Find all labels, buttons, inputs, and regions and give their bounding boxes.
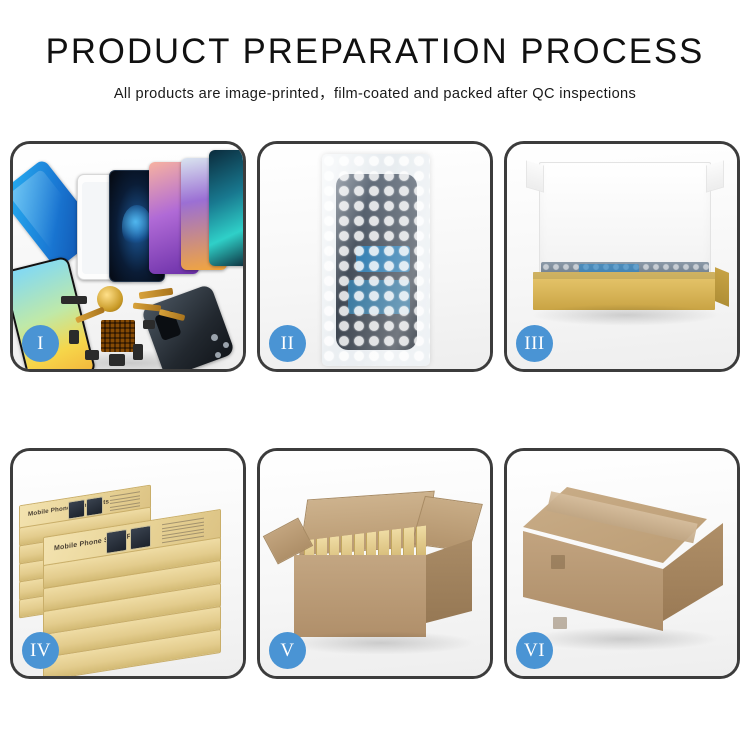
- screw-part: [215, 352, 221, 358]
- ground-shadow: [529, 627, 719, 651]
- kraft-box-front: [533, 272, 715, 310]
- carton-side-face: [426, 539, 472, 623]
- process-step-panel-5: V: [257, 448, 493, 679]
- connector-grid-part: [101, 320, 135, 352]
- small-part-chip: [143, 320, 155, 329]
- process-step-panel-3: III: [504, 141, 740, 372]
- process-step-panel-4: Mobile Phone Spare Parts: [10, 448, 246, 679]
- box-print-phone-image: [106, 529, 127, 554]
- carton-hand-hole: [551, 555, 565, 569]
- plastic-sheen: [322, 154, 430, 366]
- process-steps-grid: I II: [10, 141, 740, 679]
- small-part-chip: [69, 330, 79, 344]
- step-badge-4: IV: [22, 632, 59, 669]
- white-box-lid: [539, 162, 711, 276]
- phone-display-teal: [209, 150, 246, 266]
- carton-hand-hole: [553, 617, 567, 629]
- step-badge-5: V: [269, 632, 306, 669]
- step-badge-2: II: [269, 325, 306, 362]
- box-side-panel: [715, 267, 729, 307]
- step-badge-1: I: [22, 325, 59, 362]
- small-part-chip: [85, 350, 99, 360]
- page-title: PRODUCT PREPARATION PROCESS: [4, 34, 747, 69]
- screw-part: [223, 342, 229, 348]
- step-badge-3: III: [516, 325, 553, 362]
- page-subtitle: All products are image-printed，film-coat…: [0, 82, 750, 103]
- process-step-panel-1: I: [10, 141, 246, 372]
- bubble-wrap-package: [322, 154, 430, 366]
- small-part-chip: [61, 296, 87, 304]
- small-part-chip: [133, 344, 143, 360]
- process-step-panel-2: II: [257, 141, 493, 372]
- product-preparation-infographic: PRODUCT PREPARATION PROCESS All products…: [0, 0, 750, 750]
- carton-front-face: [294, 555, 426, 637]
- screw-part: [211, 334, 218, 341]
- header: PRODUCT PREPARATION PROCESS All products…: [0, 0, 750, 103]
- step-badge-6: VI: [516, 632, 553, 669]
- box-print-phone-image: [130, 525, 151, 550]
- small-part-chip: [109, 354, 125, 366]
- process-step-panel-6: VI: [504, 448, 740, 679]
